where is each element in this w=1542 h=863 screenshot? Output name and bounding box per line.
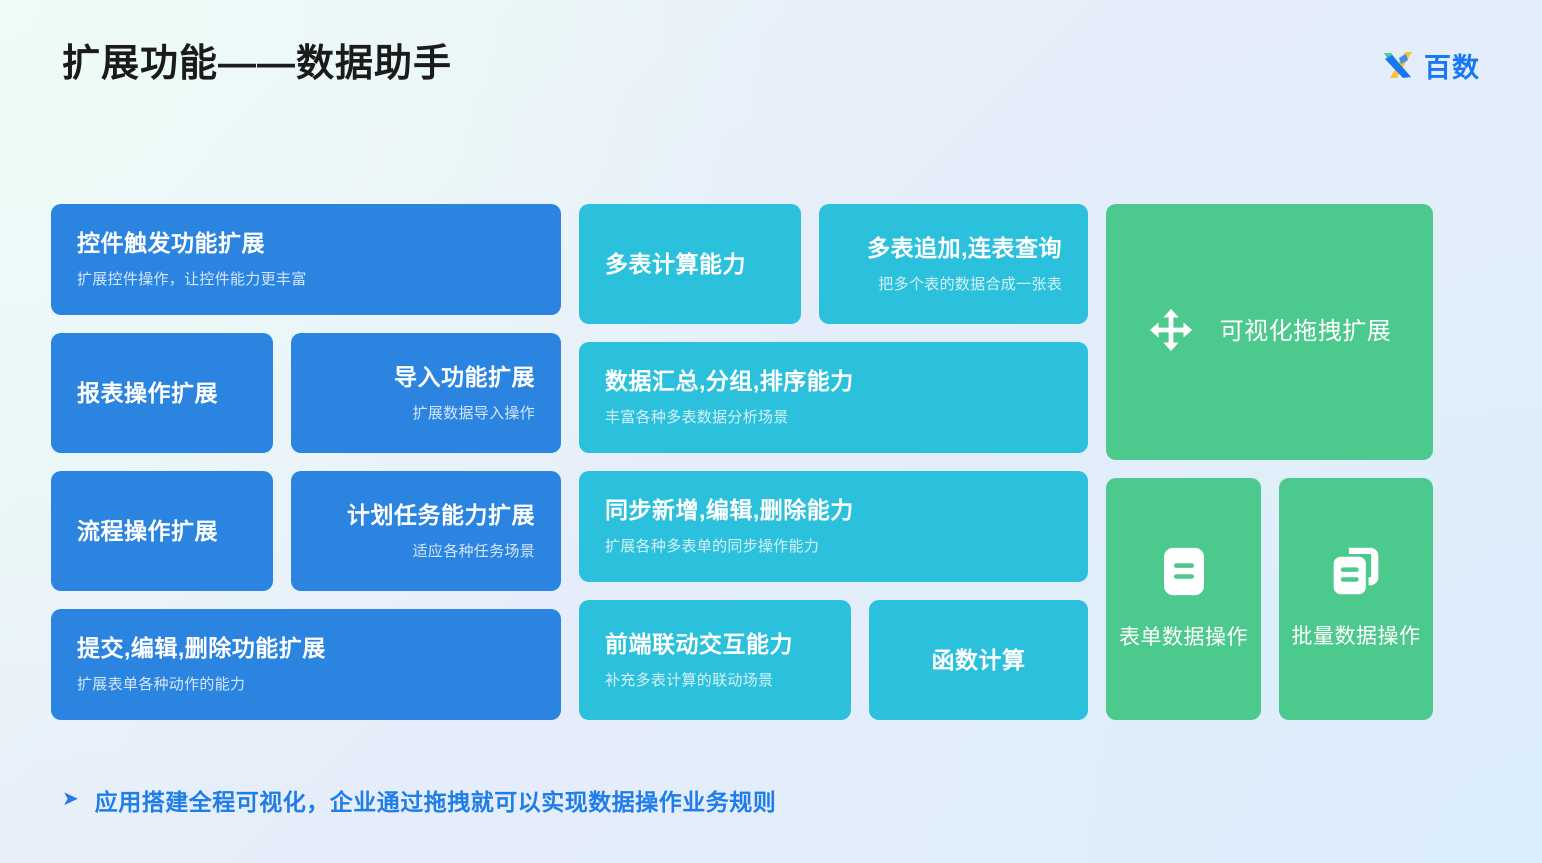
- row-blue-2: 报表操作扩展 导入功能扩展 扩展数据导入操作: [51, 333, 561, 453]
- column-blue: 控件触发功能扩展 扩展控件操作，让控件能力更丰富 报表操作扩展 导入功能扩展 扩…: [51, 204, 561, 720]
- card-title: 数据汇总,分组,排序能力: [605, 367, 854, 396]
- card-batch-data-ops[interactable]: 批量数据操作: [1279, 478, 1433, 720]
- move-arrows-icon: [1148, 307, 1194, 358]
- card-subtitle: 补充多表计算的联动场景: [605, 671, 773, 691]
- card-sync-crud[interactable]: 同步新增,编辑,删除能力 扩展各种多表单的同步操作能力: [579, 471, 1088, 582]
- card-title: 函数计算: [932, 646, 1026, 675]
- card-import-ext[interactable]: 导入功能扩展 扩展数据导入操作: [291, 333, 561, 453]
- documents-stack-icon: [1331, 546, 1381, 601]
- card-title: 导入功能扩展: [394, 363, 535, 392]
- card-subtitle: 把多个表的数据合成一张表: [878, 275, 1062, 295]
- row-green-2: 表单数据操作 批量数据操作: [1106, 478, 1433, 720]
- x-logo-icon: [1381, 49, 1415, 81]
- card-scheduled-task[interactable]: 计划任务能力扩展 适应各种任务场景: [291, 471, 561, 591]
- card-title: 多表计算能力: [605, 250, 746, 279]
- row-blue-3: 流程操作扩展 计划任务能力扩展 适应各种任务场景: [51, 471, 561, 591]
- card-subtitle: 扩展各种多表单的同步操作能力: [605, 537, 819, 557]
- row-cyan-4: 前端联动交互能力 补充多表计算的联动场景 函数计算: [579, 600, 1088, 720]
- card-report-ops[interactable]: 报表操作扩展: [51, 333, 273, 453]
- card-subtitle: 丰富各种多表数据分析场景: [605, 408, 789, 428]
- card-data-summary[interactable]: 数据汇总,分组,排序能力 丰富各种多表数据分析场景: [579, 342, 1088, 453]
- card-title: 多表追加,连表查询: [867, 234, 1062, 263]
- card-subtitle: 扩展控件操作，让控件能力更丰富: [77, 270, 307, 290]
- document-icon: [1162, 546, 1206, 602]
- arrow-bullet-icon: ➤: [62, 789, 79, 809]
- card-control-trigger[interactable]: 控件触发功能扩展 扩展控件操作，让控件能力更丰富: [51, 204, 561, 315]
- card-visual-drag[interactable]: 可视化拖拽扩展: [1106, 204, 1433, 460]
- card-subtitle: 适应各种任务场景: [413, 542, 535, 562]
- footer-text: 应用搭建全程可视化，企业通过拖拽就可以实现数据操作业务规则: [95, 783, 777, 817]
- card-title: 提交,编辑,删除功能扩展: [77, 634, 326, 663]
- row-cyan-1: 多表计算能力 多表追加,连表查询 把多个表的数据合成一张表: [579, 204, 1088, 324]
- brand-name: 百数: [1424, 46, 1480, 85]
- footer-note: ➤ 应用搭建全程可视化，企业通过拖拽就可以实现数据操作业务规则: [62, 783, 776, 817]
- slide-root: 扩展功能——数据助手 百数 控件触发功能扩展 扩展控件操作，让控件能力更丰富: [0, 0, 1542, 863]
- card-multitable-calc[interactable]: 多表计算能力: [579, 204, 801, 324]
- card-title: 批量数据操作: [1292, 623, 1421, 651]
- card-submit-edit-delete[interactable]: 提交,编辑,删除功能扩展 扩展表单各种动作的能力: [51, 609, 561, 720]
- card-title: 表单数据操作: [1119, 624, 1248, 652]
- card-title: 计划任务能力扩展: [347, 501, 535, 530]
- card-title: 可视化拖拽扩展: [1220, 317, 1392, 347]
- card-subtitle: 扩展表单各种动作的能力: [77, 675, 245, 695]
- card-flow-ops[interactable]: 流程操作扩展: [51, 471, 273, 591]
- slide-header: 扩展功能——数据助手 百数: [62, 34, 1480, 96]
- column-cyan: 多表计算能力 多表追加,连表查询 把多个表的数据合成一张表 数据汇总,分组,排序…: [579, 204, 1088, 720]
- card-title: 同步新增,编辑,删除能力: [605, 496, 854, 525]
- card-title: 流程操作扩展: [77, 517, 218, 546]
- column-green: 可视化拖拽扩展 表单数据操作: [1106, 204, 1433, 720]
- feature-board: 控件触发功能扩展 扩展控件操作，让控件能力更丰富 报表操作扩展 导入功能扩展 扩…: [51, 204, 1491, 720]
- card-title: 前端联动交互能力: [605, 630, 793, 659]
- page-title: 扩展功能——数据助手: [62, 44, 452, 86]
- card-title: 报表操作扩展: [77, 379, 218, 408]
- card-function-calc[interactable]: 函数计算: [869, 600, 1088, 720]
- card-subtitle: 扩展数据导入操作: [413, 404, 535, 424]
- card-multitable-append[interactable]: 多表追加,连表查询 把多个表的数据合成一张表: [819, 204, 1088, 324]
- card-form-data-ops[interactable]: 表单数据操作: [1106, 478, 1261, 720]
- card-title: 控件触发功能扩展: [77, 229, 265, 258]
- card-frontend-interaction[interactable]: 前端联动交互能力 补充多表计算的联动场景: [579, 600, 851, 720]
- brand-logo: 百数: [1381, 46, 1480, 85]
